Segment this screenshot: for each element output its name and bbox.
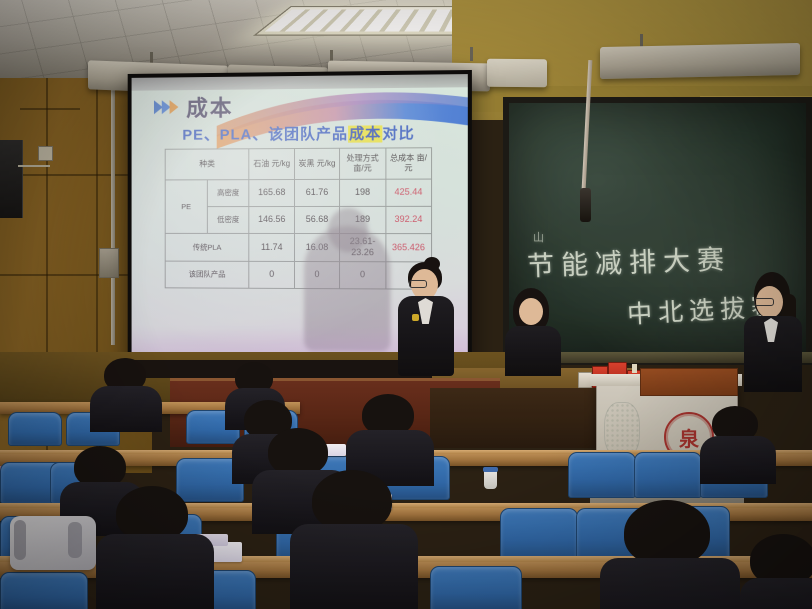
wall-trim-line: [18, 165, 50, 167]
student-foreground: [740, 534, 812, 609]
backpack: [10, 516, 96, 570]
blackboard-small-mark: 山: [533, 229, 544, 245]
seat[interactable]: [634, 452, 702, 498]
person-behind-presenter: [505, 288, 561, 374]
projector-screen-housing: [600, 43, 800, 79]
row-sublabel-high-density: 高密度: [207, 180, 249, 207]
cell-carbon-black: 61.76: [294, 179, 339, 206]
student-foreground: [96, 486, 206, 582]
table-header-row: 种类 石油 元/kg 炭黑 元/kg 处理方式 亩/元 总成本 亩/元: [165, 148, 431, 180]
seat[interactable]: [0, 572, 88, 609]
slide-subtitle-part-3: 对比: [382, 125, 414, 142]
bystander-suit: [505, 326, 561, 376]
glasses-icon: [754, 298, 774, 306]
presenter-badge: [412, 314, 419, 321]
student-foreground: [600, 500, 730, 609]
col-header-carbon-black: 炭黑 元/kg: [294, 148, 339, 179]
projector-screen-housing: [487, 59, 547, 88]
cell-petroleum: 165.68: [249, 180, 294, 207]
col-header-treatment: 处理方式 亩/元: [340, 148, 386, 179]
row-label-team-product: 该团队产品: [165, 261, 249, 288]
hanging-microphone: [580, 188, 591, 222]
row-sublabel-low-density: 低密度: [207, 207, 249, 234]
slide-subtitle-highlight: 成本: [348, 125, 382, 142]
seat[interactable]: [430, 566, 522, 609]
student: [346, 394, 430, 466]
cell-treatment: 198: [340, 179, 386, 206]
lectern-wood-panel: [640, 368, 738, 396]
presenter: [394, 262, 460, 374]
cell-total: 392.24: [385, 206, 431, 233]
valance-hanger: [470, 47, 473, 61]
cell-petroleum: 146.56: [249, 207, 294, 234]
slide-header-title: 成本: [186, 91, 233, 123]
table-row: 该团队产品 0 0 0: [165, 261, 431, 289]
slide-table-wrapper: 种类 石油 元/kg 炭黑 元/kg 处理方式 亩/元 总成本 亩/元 PE 高…: [165, 147, 432, 289]
bystander-head: [519, 298, 543, 325]
student-foreground: [290, 470, 410, 578]
wall-speaker: [0, 140, 23, 218]
seat[interactable]: [8, 412, 62, 446]
chevron-logo-icon: [153, 99, 182, 115]
cell-total: 365.426: [385, 234, 431, 262]
lecture-hall-scene: 山 节能减排大赛 中北选拔赛: [0, 0, 812, 609]
row-group-label-pe: PE: [165, 180, 207, 234]
student: [90, 358, 160, 420]
row-label-traditional-pla: 传统PLA: [165, 233, 249, 260]
cell-petroleum: 0: [249, 261, 294, 288]
cell-petroleum: 11.74: [249, 233, 294, 261]
paper-cup: [484, 470, 497, 489]
col-header-category: 种类: [165, 149, 249, 180]
slide-subtitle-part-1: PE、PLA、该团队产品: [182, 126, 348, 144]
conduit-junction-box: [99, 248, 119, 278]
gift-ribbon: [632, 364, 637, 373]
seat[interactable]: [568, 452, 636, 498]
glasses-icon: [409, 280, 427, 288]
person-at-blackboard: [742, 272, 804, 390]
table-row: 传统PLA 11.74 16.08 23.61-23.26 365.426: [165, 233, 431, 261]
table-row: PE 高密度 165.68 61.76 198 425.44: [165, 179, 431, 207]
slide-subtitle: PE、PLA、该团队产品成本对比: [132, 122, 468, 145]
blackboard-line-1: 节能减排大赛: [526, 237, 731, 283]
cell-total: 425.44: [385, 179, 431, 206]
student: [700, 406, 772, 466]
seat[interactable]: [500, 508, 578, 562]
slide-decorative-swoosh: [217, 80, 468, 156]
wall-switch-plate[interactable]: [38, 146, 53, 161]
col-header-petroleum: 石油 元/kg: [249, 149, 294, 180]
cost-comparison-table: 种类 石油 元/kg 炭黑 元/kg 处理方式 亩/元 总成本 亩/元 PE 高…: [165, 147, 432, 289]
wall-conduit-pipe: [111, 90, 115, 345]
col-header-total: 总成本 亩/元: [385, 148, 431, 179]
